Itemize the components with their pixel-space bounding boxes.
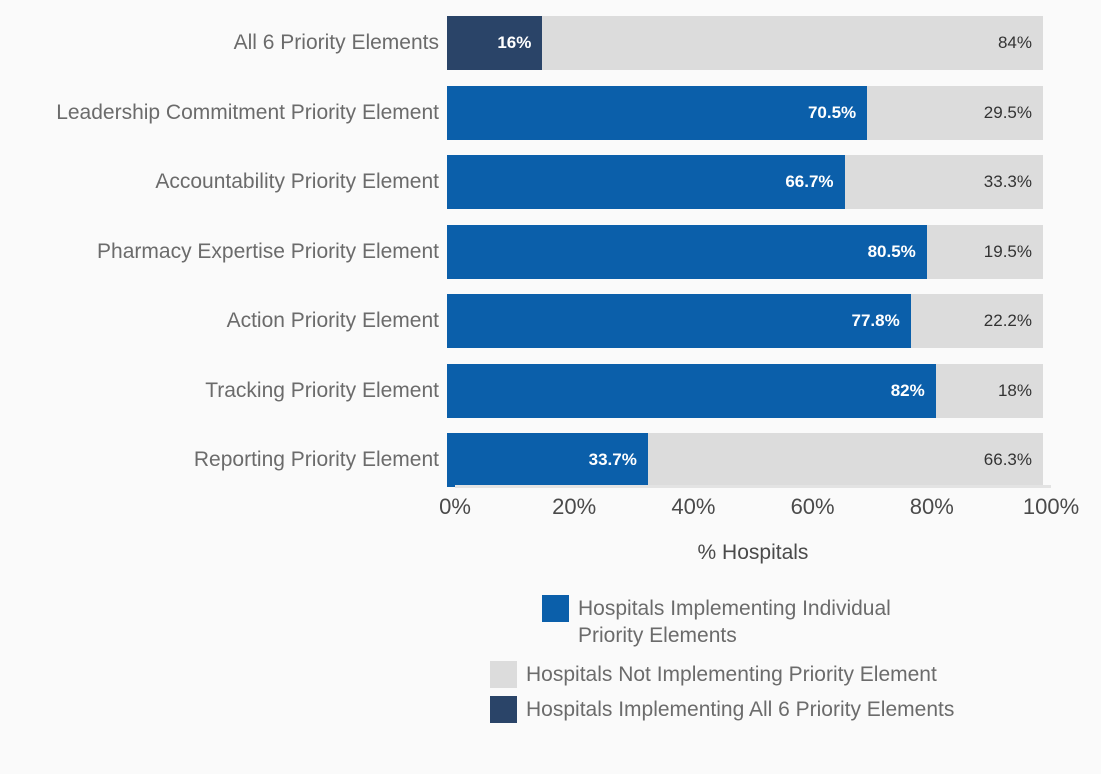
chart-row: Accountability Priority Element66.7%33.3… [0,155,1101,209]
bar-segment-implementing[interactable]: 66.7% [447,155,845,209]
bar-segment-implementing[interactable]: 70.5% [447,86,867,140]
chart-row: All 6 Priority Elements16%84% [0,16,1101,70]
legend-item[interactable]: Hospitals Implementing All 6 Priority El… [490,696,954,723]
chart-row: Leadership Commitment Priority Element70… [0,86,1101,140]
row-category-label: Tracking Priority Element [0,378,447,404]
x-tick-label: 80% [910,494,954,520]
row-category-label: Action Priority Element [0,308,447,334]
x-tick-label: 0% [439,494,471,520]
bar-track: 66.7%33.3% [447,155,1043,209]
x-axis-line [455,485,1051,488]
bar-track: 77.8%22.2% [447,294,1043,348]
bar-segment-implementing[interactable]: 33.7% [447,433,648,487]
x-axis-ticks: 0%20%40%60%80%100% [455,494,1051,524]
row-category-label: Accountability Priority Element [0,169,447,195]
legend-swatch-icon [490,661,517,688]
bar-segment-implementing[interactable]: 16% [447,16,542,70]
stacked-bar-chart: All 6 Priority Elements16%84%Leadership … [0,0,1101,774]
bar-track: 80.5%19.5% [447,225,1043,279]
bar-segment-implementing[interactable]: 82% [447,364,936,418]
row-category-label: Reporting Priority Element [0,447,447,473]
row-category-label: Leadership Commitment Priority Element [0,100,447,126]
bar-segment-not-implementing[interactable]: 84% [542,16,1043,70]
legend-label: Hospitals Implementing Individual Priori… [578,595,891,649]
bar-track: 33.7%66.3% [447,433,1043,487]
bar-segment-not-implementing[interactable]: 33.3% [845,155,1043,209]
x-tick-label: 100% [1023,494,1079,520]
row-category-label: All 6 Priority Elements [0,30,447,56]
bar-segment-implementing[interactable]: 80.5% [447,225,927,279]
chart-row: Reporting Priority Element33.7%66.3% [0,433,1101,487]
row-category-label: Pharmacy Expertise Priority Element [0,239,447,265]
bar-segment-not-implementing[interactable]: 29.5% [867,86,1043,140]
bar-segment-not-implementing[interactable]: 66.3% [648,433,1043,487]
x-axis-title: % Hospitals [455,541,1051,565]
bar-track: 16%84% [447,16,1043,70]
legend-swatch-icon [490,696,517,723]
chart-row: Pharmacy Expertise Priority Element80.5%… [0,225,1101,279]
legend-swatch-icon [542,595,569,622]
bar-segment-implementing[interactable]: 77.8% [447,294,911,348]
bar-segment-not-implementing[interactable]: 22.2% [911,294,1043,348]
x-tick-label: 40% [671,494,715,520]
x-tick-label: 20% [552,494,596,520]
bar-segment-not-implementing[interactable]: 18% [936,364,1043,418]
legend-item[interactable]: Hospitals Not Implementing Priority Elem… [490,661,937,688]
chart-row: Tracking Priority Element82%18% [0,364,1101,418]
legend-label: Hospitals Implementing All 6 Priority El… [526,696,954,723]
chart-row: Action Priority Element77.8%22.2% [0,294,1101,348]
legend-label: Hospitals Not Implementing Priority Elem… [526,661,937,688]
legend-item[interactable]: Hospitals Implementing Individual Priori… [542,595,891,649]
x-tick-label: 60% [791,494,835,520]
bar-track: 82%18% [447,364,1043,418]
bar-segment-not-implementing[interactable]: 19.5% [927,225,1043,279]
bar-track: 70.5%29.5% [447,86,1043,140]
